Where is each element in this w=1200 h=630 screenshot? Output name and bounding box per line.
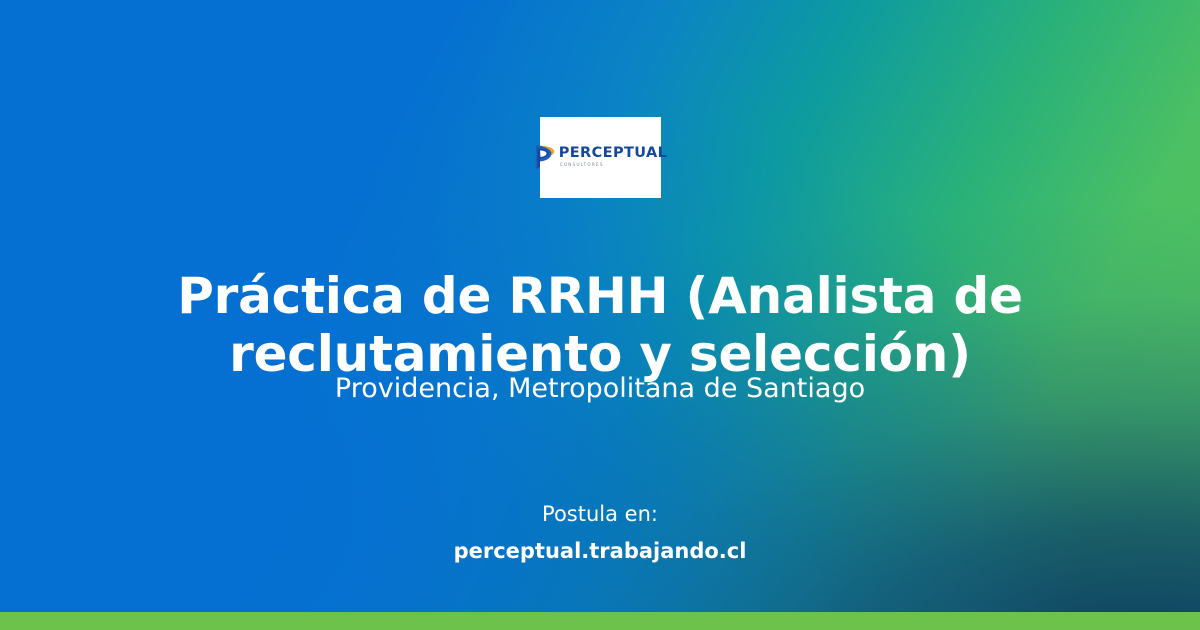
company-logo-card: PERCEPTUAL CONSULTORES — [540, 117, 661, 198]
company-logo-text: PERCEPTUAL CONSULTORES — [559, 146, 668, 167]
company-tagline: CONSULTORES — [560, 163, 604, 167]
company-logo-lockup: PERCEPTUAL CONSULTORES — [534, 144, 668, 170]
card-content: PERCEPTUAL CONSULTORES Práctica de RRHH … — [0, 0, 1200, 630]
cta-label: Postula en: — [60, 500, 1140, 528]
job-share-card: PERCEPTUAL CONSULTORES Práctica de RRHH … — [0, 0, 1200, 630]
perceptual-p-mark-icon — [534, 144, 556, 170]
job-location: Providencia, Metropolitana de Santiago — [60, 373, 1140, 405]
bottom-accent-bar — [0, 612, 1200, 630]
cta-url[interactable]: perceptual.trabajando.cl — [60, 537, 1140, 565]
call-to-action: Postula en: perceptual.trabajando.cl — [60, 500, 1140, 566]
company-wordmark: PERCEPTUAL — [559, 146, 668, 161]
job-title: Práctica de RRHH (Analista de reclutamie… — [60, 267, 1140, 383]
